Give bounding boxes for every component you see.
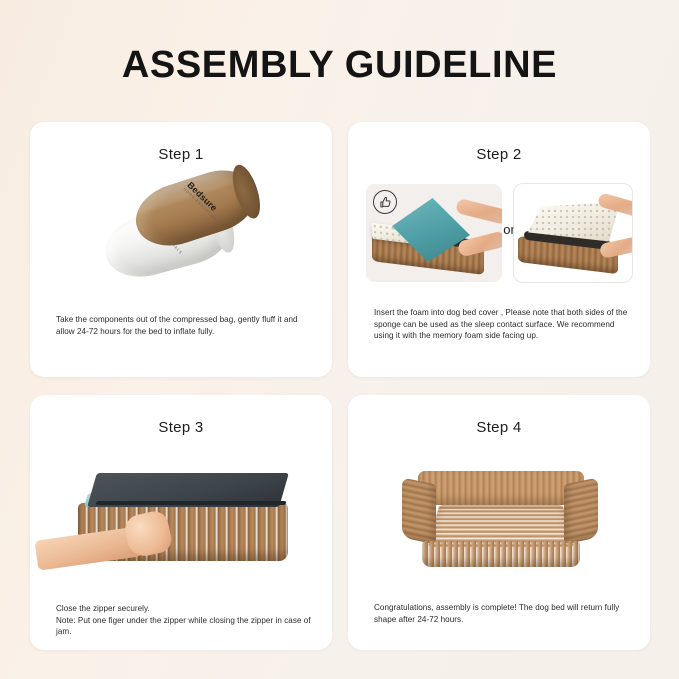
step-2-separator: or: [500, 222, 518, 237]
dog-bed-right-armrest: [564, 477, 598, 544]
left-panel-hand-upper: [455, 198, 502, 225]
step-3-arm: [34, 525, 149, 570]
step-2-caption: Insert the foam into dog bed cover , Ple…: [374, 307, 632, 342]
white-roll-brand-text: Bedsure: [150, 210, 183, 244]
dog-bed-front-edge: [422, 541, 580, 567]
step-3-bed-body: [78, 503, 288, 561]
white-roll-end-cap: [205, 196, 239, 255]
step-3-dark-cover: [87, 473, 289, 507]
step-1-caption: Take the components out of the compresse…: [56, 314, 314, 337]
right-panel-memory-foam: [528, 202, 620, 248]
finished-dog-bed: [400, 465, 600, 585]
step-card-3: Step 3 Close the zipper securely. Note: …: [30, 395, 332, 650]
brown-roll-brand-text: Bedsure: [185, 180, 219, 213]
step-3-title: Step 3: [30, 419, 332, 436]
brown-roll-brand-label: Bedsure HOME ESSENTIALS: [183, 180, 228, 224]
step-3-caption: Close the zipper securely. Note: Put one…: [56, 603, 314, 638]
left-panel-teal-foam: [392, 198, 470, 262]
left-panel-bed-rim: [378, 228, 478, 249]
step-4-caption: Congratulations, assembly is complete! T…: [374, 602, 632, 625]
brown-compressed-roll-icon: Bedsure HOME ESSENTIALS: [128, 160, 264, 255]
step-3-hand: [122, 509, 174, 559]
step-3-zipper: [95, 501, 286, 505]
white-roll-brand-subtext: HOME ESSENTIALS: [147, 217, 183, 256]
step-card-2: Step 2 or: [348, 122, 650, 377]
right-panel-hand-lower: [599, 236, 632, 259]
page-title: ASSEMBLY GUIDELINE: [0, 42, 679, 88]
dog-bed-seat-cushion: [428, 505, 575, 547]
thumbs-up-icon: [373, 190, 397, 214]
step-3-teal-foam-edge: [84, 493, 208, 507]
left-panel-bed-base: [372, 233, 484, 275]
white-roll-brand-label: Bedsure HOME ESSENTIALS: [147, 210, 191, 255]
right-panel-hand-upper: [597, 192, 632, 218]
brown-roll-brand-subtext: HOME ESSENTIALS: [183, 187, 221, 224]
step-1-title: Step 1: [30, 146, 332, 163]
step-2-right-panel: [514, 184, 632, 282]
left-panel-white-foam-edge: [372, 223, 425, 246]
step-2-title: Step 2: [348, 146, 650, 163]
right-panel-bed-rim: [524, 231, 612, 251]
step-card-4: Step 4 Congratulations, assembly is comp…: [348, 395, 650, 650]
step-card-1: Step 1 Bedsure HOME ESSENTIALS Bedsure H…: [30, 122, 332, 377]
dog-bed-backrest: [418, 471, 584, 505]
steps-grid: Step 1 Bedsure HOME ESSENTIALS Bedsure H…: [30, 122, 650, 650]
brown-roll-end-cap: [227, 162, 265, 222]
step-4-title: Step 4: [348, 419, 650, 436]
step-2-left-panel: [366, 184, 502, 282]
left-panel-hand-lower: [457, 230, 502, 257]
assembly-guideline-page: ASSEMBLY GUIDELINE Step 1 Bedsure HOME E…: [0, 0, 679, 679]
right-panel-bed-base: [518, 236, 618, 274]
white-compressed-roll-icon: Bedsure HOME ESSENTIALS: [98, 194, 237, 285]
dog-bed-left-armrest: [402, 477, 436, 544]
